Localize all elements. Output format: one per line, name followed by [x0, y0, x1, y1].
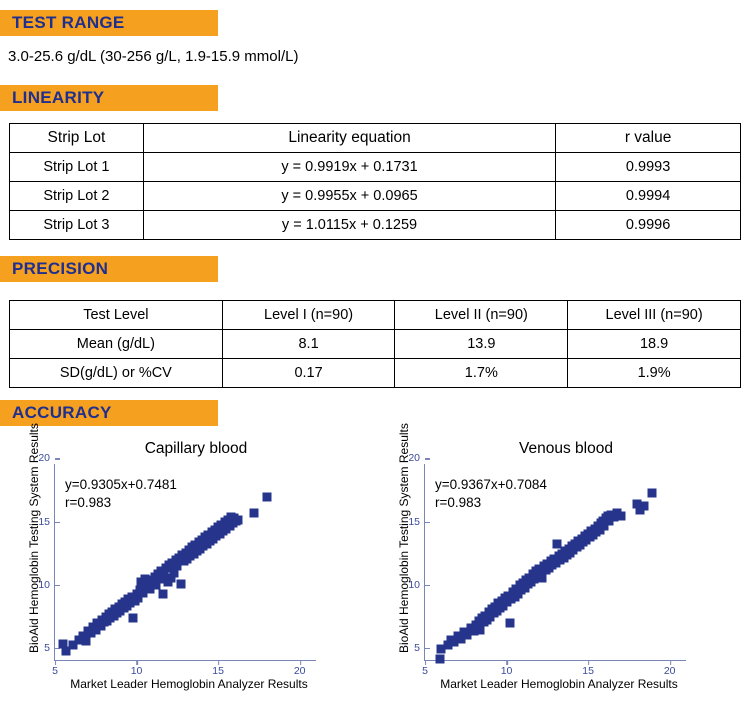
x-axis-tick-label: 10 — [501, 660, 513, 677]
scatter-point — [250, 509, 259, 518]
table-row: Strip Lot 1 y = 0.9919x + 0.1731 0.9993 — [10, 153, 741, 182]
scatter-point — [647, 489, 656, 498]
table-row: Strip Lot 3 y = 1.0115x + 0.1259 0.9996 — [10, 211, 741, 240]
x-axis-tick-label: 20 — [294, 660, 306, 677]
y-axis-tick-label: 10 — [38, 579, 55, 591]
precision-table: Test Level Level I (n=90) Level II (n=90… — [9, 300, 741, 388]
scatter-point — [233, 515, 242, 524]
column-header: Test Level — [10, 301, 223, 330]
cell-strip-lot: Strip Lot 3 — [10, 211, 144, 240]
section-heading-test-range: TEST RANGE — [0, 10, 218, 36]
x-axis-tick-label: 15 — [582, 660, 594, 677]
test-range-value: 3.0-25.6 g/dL (30-256 g/L, 1.9-15.9 mmol… — [8, 48, 298, 65]
column-header: Level III (n=90) — [568, 301, 741, 330]
cell-equation: y = 1.0115x + 0.1259 — [143, 211, 555, 240]
chart-y-axis-label: BioAid Hemoglobin Testing System Results — [397, 443, 411, 653]
cell-equation: y = 0.9955x + 0.0965 — [143, 182, 555, 211]
scatter-point — [263, 492, 272, 501]
scatter-point — [176, 580, 185, 589]
y-axis-tick-label: 20 — [38, 452, 55, 464]
cell-level-2: 1.7% — [395, 359, 568, 388]
y-axis-tick-label: 15 — [408, 516, 425, 528]
table-row: Mean (g/dL) 8.1 13.9 18.9 — [10, 330, 741, 359]
chart-annotation: y=0.9305x+0.7481 r=0.983 — [65, 476, 177, 512]
section-heading-linearity: LINEARITY — [0, 85, 218, 111]
table-row: Strip Lot 2 y = 0.9955x + 0.0965 0.9994 — [10, 182, 741, 211]
scatter-chart-venous-blood: Venous blood BioAid Hemoglobin Testing S… — [376, 436, 706, 701]
table-row: SD(g/dL) or %CV 0.17 1.7% 1.9% — [10, 359, 741, 388]
column-header: r value — [556, 124, 741, 153]
column-header: Level II (n=90) — [395, 301, 568, 330]
y-axis-tick-label: 5 — [414, 642, 425, 654]
chart-title: Capillary blood — [76, 440, 316, 458]
chart-title: Venous blood — [446, 440, 686, 458]
cell-strip-lot: Strip Lot 1 — [10, 153, 144, 182]
x-axis-tick-label: 10 — [131, 660, 143, 677]
chart-annotation: y=0.9367x+0.7084 r=0.983 — [435, 476, 547, 512]
scatter-point — [616, 511, 625, 520]
table-header-row: Test Level Level I (n=90) Level II (n=90… — [10, 301, 741, 330]
scatter-point — [435, 654, 444, 663]
chart-y-axis-label: BioAid Hemoglobin Testing System Results — [27, 443, 41, 653]
x-axis-tick-label: 5 — [422, 660, 428, 677]
scatter-point — [505, 619, 514, 628]
y-axis-tick-label: 20 — [408, 452, 425, 464]
y-axis-tick-label: 15 — [38, 516, 55, 528]
cell-level-2: 13.9 — [395, 330, 568, 359]
cell-level-1: 0.17 — [222, 359, 395, 388]
table-header-row: Strip Lot Linearity equation r value — [10, 124, 741, 153]
x-axis-tick-label: 20 — [664, 660, 676, 677]
x-axis-tick-label: 5 — [52, 660, 58, 677]
y-axis-tick-label: 5 — [44, 642, 55, 654]
chart-x-axis-label: Market Leader Hemoglobin Analyzer Result… — [44, 677, 334, 691]
chart-plot-area: y=0.9305x+0.7481 r=0.983 51015205101520 — [54, 464, 316, 661]
scatter-chart-capillary-blood: Capillary blood BioAid Hemoglobin Testin… — [6, 436, 336, 701]
column-header: Linearity equation — [143, 124, 555, 153]
cell-equation: y = 0.9919x + 0.1731 — [143, 153, 555, 182]
x-axis-tick-label: 15 — [212, 660, 224, 677]
section-heading-precision: PRECISION — [0, 256, 218, 282]
cell-r-value: 0.9993 — [556, 153, 741, 182]
cell-level-3: 18.9 — [568, 330, 741, 359]
scatter-point — [639, 501, 648, 510]
cell-strip-lot: Strip Lot 2 — [10, 182, 144, 211]
column-header: Level I (n=90) — [222, 301, 395, 330]
cell-r-value: 0.9994 — [556, 182, 741, 211]
cell-level-3: 1.9% — [568, 359, 741, 388]
section-heading-accuracy: ACCURACY — [0, 400, 218, 426]
scatter-point — [158, 590, 167, 599]
linearity-table: Strip Lot Linearity equation r value Str… — [9, 123, 741, 240]
y-axis-tick-label: 10 — [408, 579, 425, 591]
column-header: Strip Lot — [10, 124, 144, 153]
chart-x-axis-label: Market Leader Hemoglobin Analyzer Result… — [414, 677, 704, 691]
cell-level-1: 8.1 — [222, 330, 395, 359]
scatter-point — [129, 614, 138, 623]
cell-r-value: 0.9996 — [556, 211, 741, 240]
chart-plot-area: y=0.9367x+0.7084 r=0.983 51015205101520 — [424, 464, 686, 661]
cell-row-label: SD(g/dL) or %CV — [10, 359, 223, 388]
cell-row-label: Mean (g/dL) — [10, 330, 223, 359]
